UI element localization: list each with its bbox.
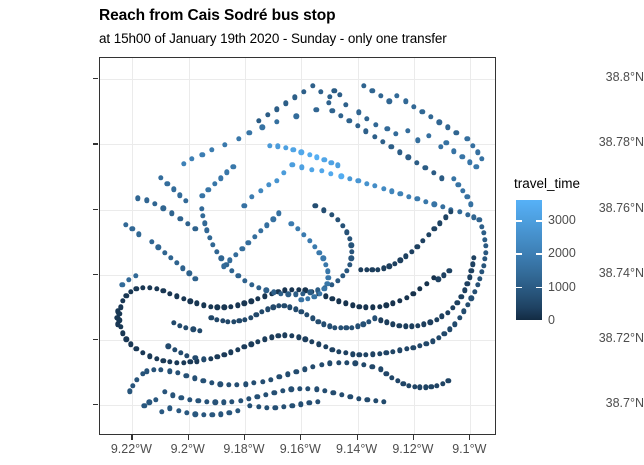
scatter-point xyxy=(428,114,433,119)
scatter-point xyxy=(372,183,377,188)
scatter-point xyxy=(428,320,433,325)
scatter-point xyxy=(230,164,235,169)
scatter-point xyxy=(389,144,394,149)
scatter-point xyxy=(455,300,460,305)
scatter-point xyxy=(398,258,403,263)
scatter-point xyxy=(149,239,154,244)
scatter-point xyxy=(322,388,327,393)
colorbar-tick-label-3: 0 xyxy=(548,313,555,327)
scatter-point xyxy=(336,349,341,354)
scatter-point xyxy=(482,256,487,261)
scatter-point xyxy=(364,397,369,402)
scatter-point xyxy=(343,350,348,355)
scatter-point xyxy=(270,305,275,310)
scatter-point xyxy=(323,293,328,298)
x-tick-label-0: 9.22°W xyxy=(111,442,152,456)
scatter-point xyxy=(167,359,172,364)
scatter-point xyxy=(181,161,186,166)
scatter-point xyxy=(218,175,223,180)
x-tick-label-1: 9.2°W xyxy=(171,442,205,456)
scatter-point xyxy=(364,181,369,186)
scatter-point xyxy=(378,93,383,98)
scatter-point xyxy=(442,331,447,336)
scatter-point xyxy=(293,369,298,374)
scatter-point xyxy=(140,371,145,376)
scatter-point xyxy=(434,383,439,388)
scatter-point xyxy=(123,336,128,341)
scatter-point xyxy=(397,348,402,353)
scatter-point xyxy=(174,293,179,298)
scatter-point xyxy=(169,211,174,216)
scatter-point xyxy=(161,358,166,363)
scatter-point xyxy=(411,104,416,109)
scatter-point xyxy=(461,308,466,313)
scatter-point xyxy=(248,299,253,304)
x-tick-1 xyxy=(188,435,189,440)
scatter-point xyxy=(370,305,375,310)
scatter-point xyxy=(210,412,215,417)
scatter-point xyxy=(140,285,145,290)
scatter-point xyxy=(215,305,220,310)
y-tick-label-4: 38.72°N xyxy=(556,331,644,345)
scatter-point xyxy=(123,222,128,227)
scatter-point xyxy=(363,352,368,357)
scatter-point xyxy=(465,136,470,141)
scatter-point xyxy=(309,339,314,344)
scatter-point xyxy=(404,295,409,300)
scatter-point xyxy=(453,130,458,135)
scatter-point xyxy=(264,405,269,410)
scatter-point xyxy=(377,351,382,356)
scatter-point xyxy=(135,196,140,201)
scatter-point xyxy=(370,364,375,369)
scatter-point xyxy=(392,261,397,266)
scatter-point xyxy=(179,395,184,400)
scatter-point xyxy=(217,381,222,386)
scatter-point xyxy=(209,380,214,385)
scatter-point xyxy=(254,312,259,317)
scatter-point xyxy=(246,396,251,401)
scatter-point xyxy=(231,319,236,324)
scatter-point xyxy=(451,176,456,181)
scatter-point xyxy=(356,110,361,115)
colorbar-tick-right-1 xyxy=(536,253,542,255)
scatter-point xyxy=(349,249,354,254)
x-tick-3 xyxy=(300,435,301,440)
scatter-point xyxy=(167,406,172,411)
scatter-point xyxy=(331,390,336,395)
scatter-point xyxy=(349,256,354,261)
scatter-point xyxy=(158,175,163,180)
scatter-point xyxy=(317,250,322,255)
scatter-point xyxy=(249,282,254,287)
scatter-point xyxy=(361,321,366,326)
y-tick-1 xyxy=(93,143,98,144)
scatter-point xyxy=(208,356,213,361)
scatter-point xyxy=(255,296,260,301)
scatter-point xyxy=(276,211,281,216)
scatter-point xyxy=(364,116,369,121)
scatter-point xyxy=(460,154,465,159)
scatter-point xyxy=(293,291,298,296)
scatter-point xyxy=(246,240,251,245)
scatter-point xyxy=(424,341,429,346)
scatter-point xyxy=(384,303,389,308)
scatter-point xyxy=(229,268,234,273)
plot-panel xyxy=(99,57,496,435)
scatter-point xyxy=(235,273,240,278)
scatter-point xyxy=(283,145,288,150)
scatter-point xyxy=(144,368,149,373)
scatter-point xyxy=(204,399,209,404)
scatter-point xyxy=(458,294,463,299)
scatter-point xyxy=(234,382,239,387)
scatter-point xyxy=(193,411,198,416)
scatter-point xyxy=(394,93,399,98)
colorbar-tick-label-1: 2000 xyxy=(548,246,576,260)
scatter-point xyxy=(393,131,398,136)
scatter-point xyxy=(258,228,263,233)
scatter-point xyxy=(185,221,190,226)
scatter-point xyxy=(174,260,179,265)
scatter-point xyxy=(381,265,386,270)
scatter-point xyxy=(188,299,193,304)
scatter-point xyxy=(310,83,315,88)
scatter-point xyxy=(329,282,334,287)
scatter-point xyxy=(483,243,488,248)
colorbar-tick-left-0 xyxy=(516,220,522,222)
scatter-point xyxy=(403,254,408,259)
scatter-point xyxy=(221,263,226,268)
scatter-point xyxy=(177,192,182,197)
scatter-point xyxy=(177,323,182,328)
scatter-point xyxy=(448,209,453,214)
scatter-point xyxy=(404,346,409,351)
gridline-y-0 xyxy=(100,79,495,80)
scatter-point xyxy=(445,310,450,315)
scatter-point xyxy=(415,244,420,249)
scatter-point xyxy=(266,182,271,187)
scatter-point xyxy=(348,394,353,399)
scatter-point xyxy=(446,378,451,383)
scatter-point xyxy=(265,112,270,117)
scatter-point xyxy=(366,319,371,324)
scatter-point xyxy=(456,182,461,187)
scatter-point xyxy=(372,134,377,139)
scatter-point xyxy=(136,232,141,237)
scatter-point xyxy=(166,344,171,349)
scatter-point xyxy=(420,238,425,243)
scatter-point xyxy=(335,217,340,222)
scatter-point xyxy=(288,387,293,392)
scatter-point xyxy=(340,223,345,228)
scatter-point xyxy=(472,289,477,294)
scatter-point xyxy=(151,367,156,372)
scatter-point xyxy=(189,156,194,161)
scatter-point xyxy=(315,399,320,404)
scatter-point xyxy=(260,379,265,384)
scatter-point xyxy=(467,160,472,165)
scatter-point xyxy=(197,328,202,333)
scatter-point xyxy=(190,327,195,332)
scatter-point xyxy=(395,378,400,383)
scatter-point xyxy=(440,381,445,386)
scatter-point xyxy=(445,125,450,130)
scatter-point xyxy=(161,288,166,293)
scatter-point xyxy=(313,107,318,112)
x-tick-5 xyxy=(413,435,414,440)
colorbar-tick-left-2 xyxy=(516,287,522,289)
scatter-point xyxy=(144,198,149,203)
scatter-point xyxy=(307,238,312,243)
scatter-point xyxy=(201,303,206,308)
scatter-point xyxy=(141,403,146,408)
scatter-point xyxy=(177,216,182,221)
scatter-point xyxy=(265,306,270,311)
scatter-point xyxy=(301,89,306,94)
scatter-point xyxy=(471,255,476,260)
scatter-point xyxy=(460,188,465,193)
scatter-point xyxy=(299,309,304,314)
scatter-point xyxy=(210,242,215,247)
scatter-point xyxy=(199,152,204,157)
scatter-point xyxy=(321,321,326,326)
scatter-point xyxy=(315,319,320,324)
scatter-point xyxy=(384,371,389,376)
scatter-point xyxy=(162,250,167,255)
scatter-point xyxy=(299,149,304,154)
scatter-point xyxy=(384,350,389,355)
chart-title: Reach from Cais Sodré bus stop xyxy=(99,7,335,25)
scatter-point xyxy=(167,368,172,373)
scatter-point xyxy=(423,385,428,390)
scatter-point xyxy=(474,164,479,169)
scatter-point xyxy=(356,396,361,401)
scatter-point xyxy=(256,118,261,123)
scatter-point xyxy=(437,220,442,225)
scatter-point xyxy=(467,275,472,280)
scatter-point xyxy=(411,345,416,350)
scatter-point xyxy=(397,149,402,154)
scatter-point xyxy=(272,390,277,395)
scatter-point xyxy=(235,347,240,352)
scatter-point xyxy=(313,203,318,208)
scatter-point xyxy=(355,123,360,128)
scatter-point xyxy=(159,409,164,414)
scatter-point xyxy=(243,381,248,386)
scatter-point xyxy=(398,191,403,196)
scatter-point xyxy=(465,281,470,286)
scatter-point xyxy=(429,384,434,389)
scatter-point xyxy=(259,309,264,314)
scatter-point xyxy=(319,168,324,173)
scatter-point xyxy=(134,377,139,382)
scatter-point xyxy=(285,372,290,377)
scatter-point xyxy=(451,148,456,153)
scatter-point xyxy=(431,226,436,231)
scatter-point xyxy=(437,119,442,124)
scatter-point xyxy=(130,383,135,388)
scatter-point xyxy=(233,252,238,257)
scatter-point xyxy=(200,213,205,218)
x-tick-4 xyxy=(357,435,358,440)
scatter-point xyxy=(236,136,241,141)
scatter-point xyxy=(242,203,247,208)
scatter-point xyxy=(201,412,206,417)
scatter-point xyxy=(181,296,186,301)
scatter-point xyxy=(330,108,335,113)
y-tick-label-5: 38.7°N xyxy=(556,396,644,410)
scatter-point xyxy=(174,360,179,365)
scatter-point xyxy=(277,374,282,379)
scatter-point xyxy=(330,347,335,352)
scatter-point xyxy=(291,147,296,152)
scatter-point xyxy=(335,278,340,283)
scatter-point xyxy=(171,187,176,192)
scatter-point xyxy=(386,99,391,104)
scatter-point xyxy=(390,301,395,306)
scatter-point xyxy=(435,277,440,282)
scatter-point xyxy=(364,267,369,272)
scatter-point xyxy=(282,303,287,308)
scatter-point xyxy=(258,188,263,193)
scatter-point xyxy=(469,295,474,300)
x-tick-6 xyxy=(469,435,470,440)
scatter-point xyxy=(443,215,448,220)
scatter-point xyxy=(305,386,310,391)
scatter-point xyxy=(323,344,328,349)
scatter-point xyxy=(226,382,231,387)
scatter-point xyxy=(361,83,366,88)
scatter-point xyxy=(447,327,452,332)
scatter-point xyxy=(343,102,348,107)
scatter-point xyxy=(375,267,380,272)
scatter-point xyxy=(483,250,488,255)
scatter-point xyxy=(326,100,331,105)
scatter-point xyxy=(317,291,322,296)
scatter-point xyxy=(310,316,315,321)
scatter-point xyxy=(327,361,332,366)
scatter-point xyxy=(384,320,389,325)
gridline-x-3 xyxy=(301,58,302,434)
scatter-point xyxy=(215,354,220,359)
scatter-point xyxy=(400,381,405,386)
scatter-point xyxy=(370,351,375,356)
scatter-point xyxy=(373,398,378,403)
scatter-point xyxy=(214,249,219,254)
scatter-point xyxy=(201,378,206,383)
scatter-point xyxy=(420,109,425,114)
scatter-point xyxy=(293,114,298,119)
scatter-point xyxy=(278,291,283,296)
scatter-point xyxy=(302,366,307,371)
scatter-point xyxy=(415,323,420,328)
scatter-point xyxy=(328,171,333,176)
scatter-point xyxy=(355,178,360,183)
scatter-point xyxy=(336,360,341,365)
scatter-point xyxy=(406,155,411,160)
scatter-point xyxy=(439,314,444,319)
scatter-point xyxy=(424,281,429,286)
scatter-point xyxy=(470,143,475,148)
scatter-point xyxy=(339,174,344,179)
scatter-point xyxy=(171,320,176,325)
scatter-point xyxy=(434,317,439,322)
scatter-point xyxy=(133,273,138,278)
scatter-point xyxy=(406,383,411,388)
scatter-point xyxy=(312,294,317,299)
scatter-point xyxy=(228,350,233,355)
colorbar-tick-label-2: 1000 xyxy=(548,280,576,294)
gridline-x-6 xyxy=(470,58,471,434)
scatter-point xyxy=(238,398,243,403)
scatter-point xyxy=(153,397,158,402)
scatter-point xyxy=(275,333,280,338)
colorbar-tick-left-3 xyxy=(516,320,522,322)
gridline-y-4 xyxy=(100,340,495,341)
scatter-point xyxy=(167,291,172,296)
scatter-point xyxy=(262,336,267,341)
scatter-point xyxy=(147,285,152,290)
scatter-point xyxy=(335,162,340,167)
scatter-point xyxy=(274,178,279,183)
scatter-point xyxy=(328,160,333,165)
scatter-point xyxy=(271,290,276,295)
scatter-point xyxy=(259,125,264,130)
scatter-point xyxy=(227,258,232,263)
scatter-point xyxy=(322,286,327,291)
scatter-point xyxy=(126,277,131,282)
scatter-point xyxy=(346,118,351,123)
scatter-point xyxy=(344,230,349,235)
scatter-point xyxy=(384,126,389,131)
scatter-point xyxy=(468,202,473,207)
scatter-point xyxy=(310,364,315,369)
scatter-point xyxy=(242,344,247,349)
scatter-point xyxy=(338,325,343,330)
scatter-point xyxy=(304,312,309,317)
x-tick-0 xyxy=(131,435,132,440)
scatter-point xyxy=(300,291,305,296)
scatter-point xyxy=(178,350,183,355)
scatter-point xyxy=(275,144,280,149)
scatter-point xyxy=(373,122,378,127)
scatter-point xyxy=(214,317,219,322)
scatter-point xyxy=(221,352,226,357)
scatter-point xyxy=(330,296,335,301)
scatter-point xyxy=(119,282,124,287)
scatter-point xyxy=(290,162,295,167)
scatter-point xyxy=(270,217,275,222)
scatter-point xyxy=(218,411,223,416)
scatter-point xyxy=(202,220,207,225)
scatter-point xyxy=(262,293,267,298)
scatter-point xyxy=(120,331,125,336)
scatter-point xyxy=(357,352,362,357)
gridline-x-0 xyxy=(132,58,133,434)
scatter-point xyxy=(314,155,319,160)
scatter-point xyxy=(481,263,486,268)
scatter-point xyxy=(411,291,416,296)
scatter-point xyxy=(457,315,462,320)
scatter-point xyxy=(152,201,157,206)
scatter-point xyxy=(479,156,484,161)
scatter-point xyxy=(303,336,308,341)
scatter-point xyxy=(343,301,348,306)
scatter-point xyxy=(299,297,304,302)
scatter-point xyxy=(301,232,306,237)
chart-subtitle: at 15h00 of January 19th 2020 - Sunday -… xyxy=(99,31,447,46)
